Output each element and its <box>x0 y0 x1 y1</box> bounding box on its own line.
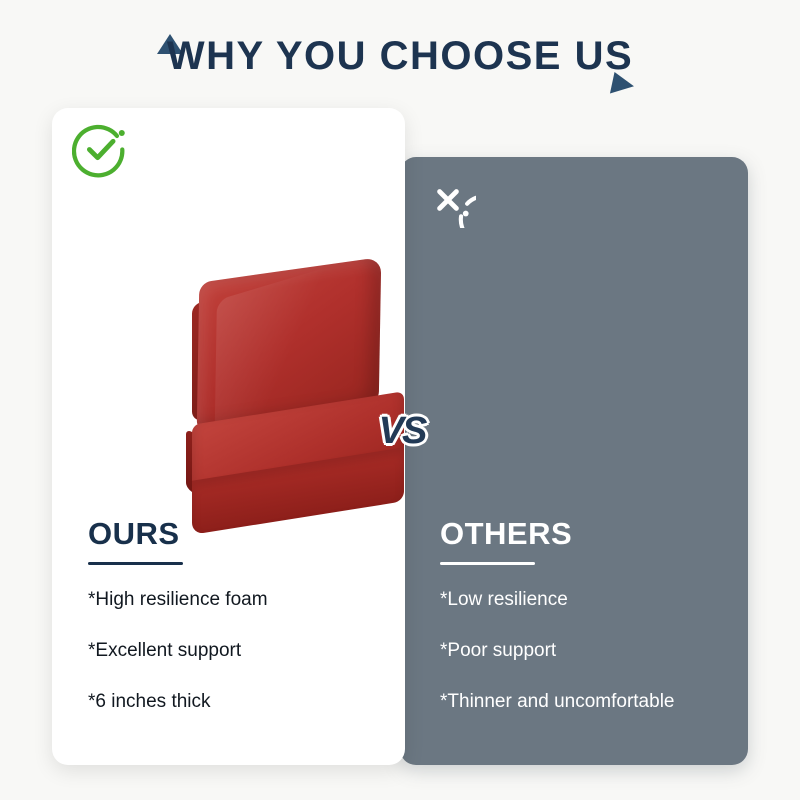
versus-badge: VS <box>367 404 437 458</box>
list-item: *Excellent support <box>88 640 388 663</box>
x-circle-icon <box>420 172 476 228</box>
others-column: OTHERS *Low resilience *Poor support *Th… <box>440 516 740 741</box>
others-heading: OTHERS <box>440 516 740 552</box>
others-bullet-list: *Low resilience *Poor support *Thinner a… <box>440 589 740 713</box>
list-item: *Low resilience <box>440 589 740 612</box>
others-heading-rule <box>440 562 535 565</box>
list-item: *Poor support <box>440 640 740 663</box>
list-item: *High resilience foam <box>88 589 388 612</box>
ours-column: OURS *High resilience foam *Excellent su… <box>88 516 388 741</box>
page-title: WHY YOU CHOOSE US <box>0 34 800 79</box>
infographic-canvas: WHY YOU CHOOSE US <box>0 0 800 800</box>
list-item: *Thinner and uncomfortable <box>440 691 740 714</box>
ours-heading: OURS <box>88 516 388 552</box>
ours-heading-rule <box>88 562 183 565</box>
ours-product-image <box>180 268 438 523</box>
ours-bullet-list: *High resilience foam *Excellent support… <box>88 589 388 713</box>
check-circle-icon <box>72 120 130 178</box>
list-item: *6 inches thick <box>88 691 388 714</box>
